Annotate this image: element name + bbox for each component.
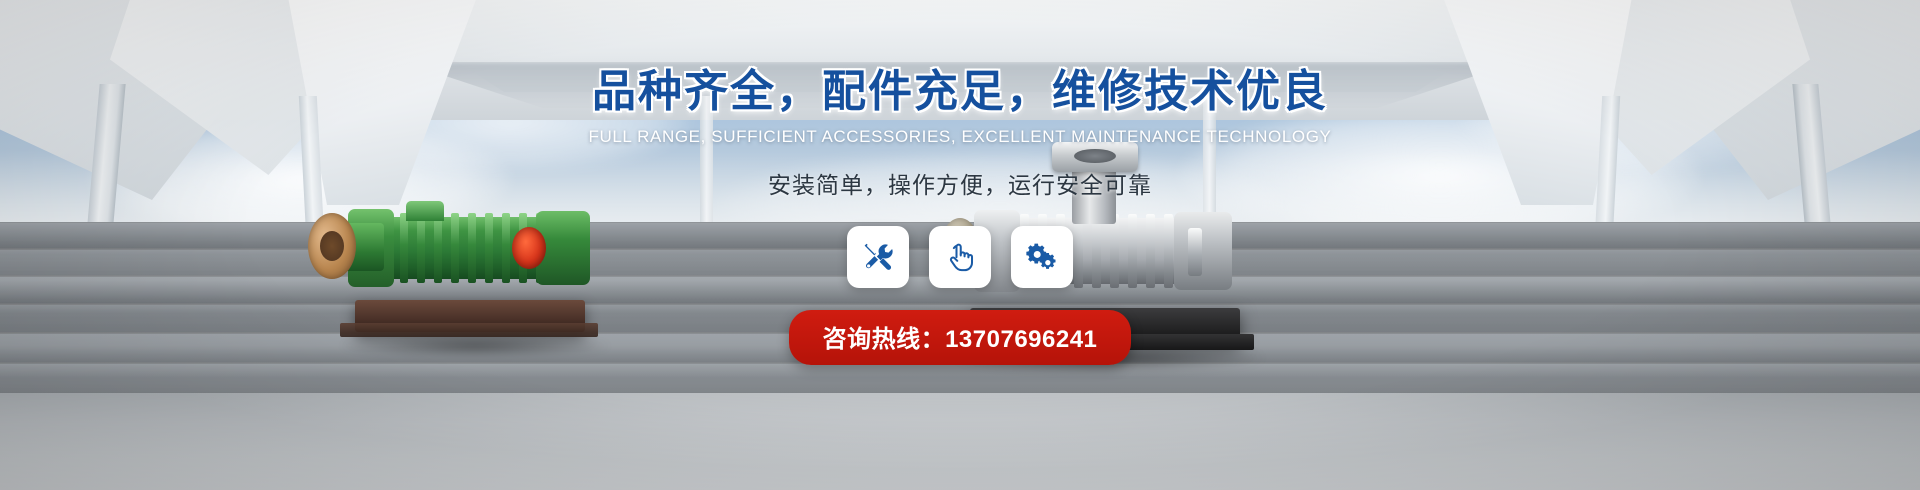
banner-subtitle-chinese: 安装简单，操作方便，运行安全可靠: [768, 170, 1152, 200]
feature-tools[interactable]: [847, 226, 909, 288]
tools-icon: [861, 240, 895, 274]
banner-content: 品种齐全，配件充足，维修技术优良 FULL RANGE, SUFFICIENT …: [0, 0, 1920, 490]
feature-icon-row: [847, 226, 1073, 288]
feature-easy-operation[interactable]: [929, 226, 991, 288]
promo-banner: 品种齐全，配件充足，维修技术优良 FULL RANGE, SUFFICIENT …: [0, 0, 1920, 490]
banner-headline: 品种齐全，配件充足，维修技术优良: [592, 66, 1328, 118]
banner-subtitle-english: FULL RANGE, SUFFICIENT ACCESSORIES, EXCE…: [589, 126, 1332, 148]
hand-click-icon: [943, 240, 977, 274]
hotline-badge[interactable]: 咨询热线：13707696241: [789, 310, 1132, 365]
feature-parts[interactable]: [1011, 226, 1073, 288]
gears-icon: [1025, 240, 1059, 274]
